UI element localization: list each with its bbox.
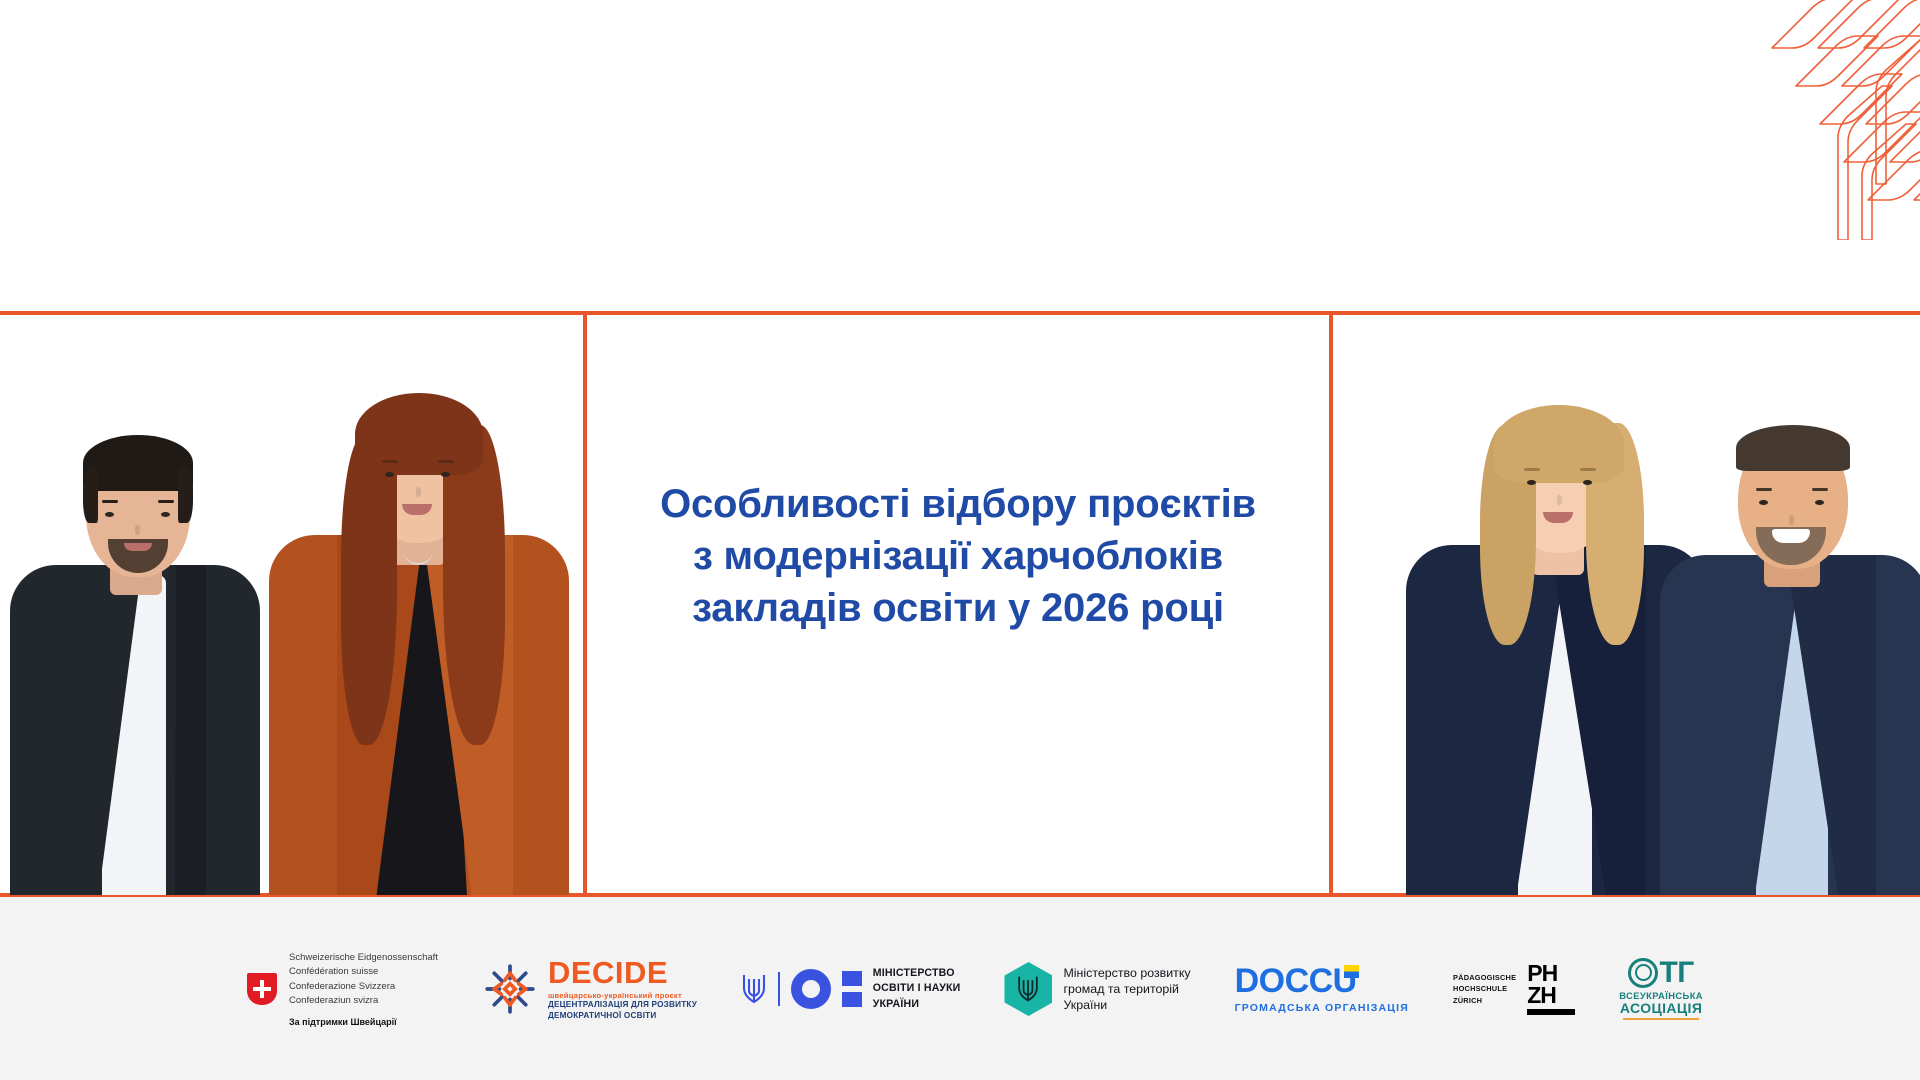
swiss-shield-icon [247,973,277,1005]
ukraine-trident-icon [741,972,767,1006]
logo-ministry-of-development: Міністерство розвитку громад та територі… [1004,962,1190,1016]
phzh-line-1: PÄDAGOGISCHE [1453,972,1516,983]
mon-line-3: УКРАЇНИ [873,997,961,1012]
logo-decide: DECIDE швейцарсько-український проєкт ДЕ… [482,957,697,1021]
doccu-wordmark: DOCCU [1235,964,1357,998]
mon-line-2: ОСВІТИ І НАУКИ [873,981,961,996]
decide-tagline: швейцарсько-український проєкт [548,991,697,1000]
swiss-support-note: За підтримки Швейцарії [289,1017,438,1027]
speaker-1-photo [10,275,260,895]
otg-o-glyph [1628,958,1658,988]
doccu-subtitle: ГРОМАДСЬКА ОРГАНІЗАЦІЯ [1235,1002,1409,1014]
mreg-line-2: громад та територій [1063,981,1190,997]
decide-subtitle-2: ДЕМОКРАТИЧНОЇ ОСВІТИ [548,1011,697,1021]
decide-subtitle-1: ДЕЦЕНТРАЛІЗАЦІЯ ДЛЯ РОЗВИТКУ [548,1000,697,1010]
swiss-line-it: Confederazione Svizzera [289,980,438,994]
banner-canvas: Особливості відбору проєктів з модерніза… [0,0,1920,1080]
mon-circle-icon [791,969,831,1009]
otg-underline [1623,1018,1699,1020]
phzh-underline [1527,1009,1575,1015]
mon-squares-icon [842,971,862,1007]
chevron-leaf-pattern-icon [1620,0,1920,240]
logo-swiss-confederation: Schweizerische Eidgenossenschaft Confédé… [247,951,438,1028]
speaker-2-photo [255,225,585,895]
logo-ministry-of-education: МІНІСТЕРСТВО ОСВІТИ І НАУКИ УКРАЇНИ [741,966,960,1012]
decide-snowflake-icon [482,961,538,1017]
swiss-line-fr: Confédération suisse [289,965,438,979]
mreg-line-1: Міністерство розвитку [1063,965,1190,981]
mon-divider [778,972,780,1006]
banner-title: Особливості відбору проєктів з модерніза… [585,478,1331,634]
otg-ring-icon: ТГ [1628,958,1693,988]
logo-phzh: PÄDAGOGISCHE HOCHSCHULE ZÜRICH PH ZH [1453,963,1575,1015]
doccu-wordmark-text: DOCCU [1235,962,1357,1000]
phzh-line-3: ZÜRICH [1453,995,1516,1006]
partners-footer: Schweizerische Eidgenossenschaft Confédé… [0,897,1920,1080]
otg-wordmark: ТГ [1659,958,1693,988]
doccu-flag-icon [1344,965,1359,978]
mreg-name: Міністерство розвитку громад та територі… [1063,965,1190,1013]
swiss-names: Schweizerische Eidgenossenschaft Confédé… [289,951,438,1009]
logo-otg-association: ТГ ВСЕУКРАЇНСЬКА АСОЦІАЦІЯ [1619,958,1703,1020]
speaker-4-photo [1660,265,1920,895]
swiss-line-de: Schweizerische Eidgenossenschaft [289,951,438,965]
mon-line-1: МІНІСТЕРСТВО [873,966,961,981]
swiss-line-rm: Confederaziun svizra [289,994,438,1008]
phzh-bar-icon: PH ZH [1527,963,1575,1015]
partner-logo-row: Schweizerische Eidgenossenschaft Confédé… [0,919,1920,1059]
trident-hexagon-icon [1004,962,1052,1016]
decide-wordmark: DECIDE [548,957,697,988]
phzh-name: PÄDAGOGISCHE HOCHSCHULE ZÜRICH [1453,972,1516,1006]
mon-name: МІНІСТЕРСТВО ОСВІТИ І НАУКИ УКРАЇНИ [873,966,961,1012]
mreg-line-3: України [1063,997,1190,1013]
otg-line-2: АСОЦІАЦІЯ [1620,1001,1702,1016]
logo-doccu: DOCCU ГРОМАДСЬКА ОРГАНІЗАЦІЯ [1235,964,1409,1014]
phzh-line-2: HOCHSCHULE [1453,983,1516,994]
phzh-mark-line-2: ZH [1527,985,1556,1007]
